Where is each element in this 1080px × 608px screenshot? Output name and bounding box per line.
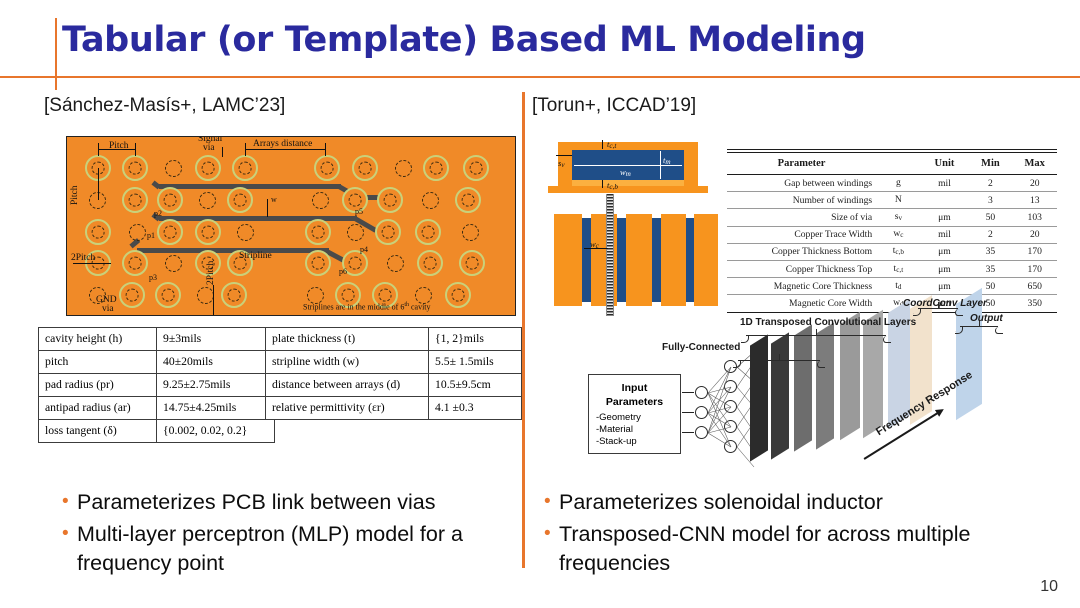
- via-solid: [221, 282, 247, 308]
- cell-value: 9±3mils: [157, 328, 275, 351]
- sym-sub: d: [898, 283, 902, 291]
- bullet-item: Multi-layer perceptron (MLP) model for a…: [62, 520, 512, 578]
- nn-label-conv-layers: 1D Transposed Convolutional Layers: [740, 317, 916, 328]
- via-dashed: [462, 224, 479, 241]
- sym-base: g: [896, 177, 901, 188]
- pcb-label-p3: p3: [149, 273, 157, 282]
- cell-max: 20: [1012, 226, 1057, 243]
- winding-gap-core: [582, 218, 591, 302]
- winding-gap-core: [617, 218, 626, 302]
- conv-slab: [840, 312, 860, 440]
- via-solid: [445, 282, 471, 308]
- title-accent-horizontal-rule: [0, 76, 1080, 78]
- cell-min: 3: [968, 192, 1012, 209]
- inductor-label-tcb: tc,b: [607, 180, 618, 191]
- input-parameters-box: Input Parameters -Geometry -Material -St…: [588, 374, 681, 454]
- via-solid: [377, 187, 403, 213]
- cell-value: {0.002, 0.02, 0.2}: [157, 420, 275, 443]
- cell-parameter: Copper Thickness Bottom: [727, 243, 876, 260]
- table-row: plate thickness (t){1, 2}mils: [266, 328, 522, 351]
- via-solid: [232, 155, 258, 181]
- conv-slab: [863, 310, 883, 438]
- pcb-note: Striplines are in the middle of 6th cavi…: [303, 302, 431, 312]
- cell-min: 2: [968, 226, 1012, 243]
- conv-slab: [794, 324, 812, 451]
- pcb-label-p6: p6: [339, 267, 347, 276]
- label-sub: c: [596, 242, 599, 250]
- inductor-label-tct: tc,t: [607, 139, 616, 150]
- pitch-tick: [135, 143, 136, 156]
- pcb-parameter-table-left: cavity height (h)9±3mils pitch40±20mils …: [38, 327, 275, 443]
- sym-sub: c: [900, 231, 903, 239]
- pitch-tick: [98, 143, 99, 156]
- panel-divider: [522, 92, 525, 568]
- via-solid: [415, 219, 441, 245]
- tcb-dimension-arrow: [602, 180, 603, 188]
- tm-dimension-arrow: [660, 151, 661, 179]
- cell-value: 10.5±9.5cm: [429, 374, 522, 397]
- table-row: pitch40±20mils: [39, 351, 275, 374]
- cell-param: cavity height (h): [39, 328, 157, 351]
- cell-param: pitch: [39, 351, 157, 374]
- pcb-parameter-table-right: plate thickness (t){1, 2}mils stripline …: [265, 327, 522, 420]
- table-row: cavity height (h)9±3mils: [39, 328, 275, 351]
- via-dashed: [387, 255, 404, 272]
- cell-max: 13: [1012, 192, 1057, 209]
- via-solid: [305, 250, 331, 276]
- cell-parameter: Copper Thickness Top: [727, 260, 876, 277]
- sv-dimension-arrow: [556, 155, 572, 156]
- nn-label-fully-connected: Fully-Connected: [662, 342, 740, 353]
- via-solid: [314, 155, 340, 181]
- table-row: Gap between windings g mil 2 20: [727, 175, 1057, 192]
- table-top-rule: [727, 149, 1057, 150]
- sym-sub: c,t: [896, 266, 903, 274]
- winding-gap-core: [686, 218, 694, 302]
- cell-max: 650: [1012, 278, 1057, 295]
- signal-via-leader: [222, 147, 223, 157]
- cell-max: 103: [1012, 209, 1057, 226]
- pcb-label-p2: p2: [154, 209, 162, 218]
- input-item-stackup: -Stack-up: [596, 436, 680, 447]
- pcb-note-text: Striplines are in the middle of 6: [303, 303, 404, 312]
- via-solid: [423, 155, 449, 181]
- conv-slab: [771, 332, 789, 459]
- cell-symbol: tc,b: [876, 243, 920, 260]
- header-unit: Unit: [921, 153, 969, 175]
- label-sub: c,t: [609, 142, 616, 150]
- via-dashed: [395, 160, 412, 177]
- pcb-via-array-stripline-diagram: Pitch Pitch Signal via Arrays distance 2…: [66, 136, 516, 316]
- cell-value: {1, 2}mils: [429, 328, 522, 351]
- brace-tick: [816, 329, 817, 336]
- tct-dimension-arrow: [602, 140, 603, 149]
- cell-min: 35: [968, 260, 1012, 277]
- winding-bar: [694, 214, 718, 306]
- inductor-label-wm: wm: [620, 167, 631, 178]
- via-dashed: [129, 224, 146, 241]
- input-title-line1: Input: [589, 382, 680, 394]
- via-dashed: [197, 287, 214, 304]
- bullet-item: Parameterizes solenoidal inductor: [544, 488, 1054, 517]
- header-symbol: [876, 153, 920, 175]
- bullets-right: Parameterizes solenoidal inductor Transp…: [544, 488, 1054, 581]
- bullet-item: Transposed-CNN model for across multiple…: [544, 520, 1054, 578]
- coordconv-brace: [918, 308, 958, 315]
- cell-max: 20: [1012, 175, 1057, 192]
- via-solid: [375, 219, 401, 245]
- pcb-label-w: w: [271, 195, 277, 204]
- table-header-row: Parameter Unit Min Max: [727, 153, 1057, 175]
- cell-parameter: Magnetic Core Thickness: [727, 278, 876, 295]
- via-solid: [195, 155, 221, 181]
- cell-param: relative permittivity (εr): [266, 397, 429, 420]
- input-arrow: [682, 392, 694, 393]
- via-solid: [155, 282, 181, 308]
- pcb-label-arrays-distance: Arrays distance: [253, 139, 312, 149]
- via-dashed: [312, 192, 329, 209]
- output-brace: [960, 326, 998, 333]
- table-row: Number of windings N 3 13: [727, 192, 1057, 209]
- cell-unit: [921, 192, 969, 209]
- cell-param: distance between arrays (d): [266, 374, 429, 397]
- winding-gap-core: [652, 218, 661, 302]
- cell-value: 4.1 ±0.3: [429, 397, 522, 420]
- pcb-label-p5: p5: [355, 207, 363, 216]
- cell-parameter: Magnetic Core Width: [727, 295, 876, 312]
- fc-node: [695, 426, 708, 439]
- transposed-cnn-architecture-diagram: Input Parameters -Geometry -Material -St…: [588, 312, 1058, 477]
- fc-node: [695, 406, 708, 419]
- table-row: antipad radius (ar)14.75±4.25mils: [39, 397, 275, 420]
- gap-indicator-strip: [606, 194, 614, 316]
- cell-parameter: Gap between windings: [727, 175, 876, 192]
- nn-label-coordconv: CoordConv Layer: [903, 298, 987, 309]
- input-title-line2: Parameters: [589, 396, 680, 408]
- arrays-distance-tick: [245, 143, 246, 156]
- via-solid: [463, 155, 489, 181]
- fc-node: [724, 380, 737, 393]
- cell-unit: mil: [921, 175, 969, 192]
- cell-unit: μm: [921, 209, 969, 226]
- label-sub: c,b: [609, 183, 618, 191]
- winding-bar: [626, 214, 652, 306]
- input-item-material: -Material: [596, 424, 680, 435]
- cell-value: 14.75±4.25mils: [157, 397, 275, 420]
- via-solid: [459, 250, 485, 276]
- fc-node: [724, 440, 737, 453]
- pcb-label-stripline: Stripline: [239, 251, 272, 261]
- substrate-base: [548, 186, 708, 193]
- table-row: distance between arrays (d)10.5±9.5cm: [266, 374, 522, 397]
- header-parameter: Parameter: [727, 153, 876, 175]
- table-row: stripline width (w)5.5± 1.5mils: [266, 351, 522, 374]
- via-dashed: [347, 224, 364, 241]
- fc-node: [695, 386, 708, 399]
- cell-min: 50: [968, 209, 1012, 226]
- copper-right-wall: [684, 142, 698, 186]
- via-solid: [122, 155, 148, 181]
- inductor-label-wc: wc: [590, 239, 599, 250]
- nn-label-output: Output: [970, 313, 1003, 324]
- brace-tick: [779, 354, 780, 361]
- table-row: loss tangent (δ){0.002, 0.02, 0.2}: [39, 420, 275, 443]
- cell-parameter: Copper Trace Width: [727, 226, 876, 243]
- cell-symbol: td: [876, 278, 920, 295]
- page-title: Tabular (or Template) Based ML Modeling: [62, 18, 1052, 62]
- via-solid: [119, 282, 145, 308]
- cell-max: 170: [1012, 243, 1057, 260]
- fc-node: [724, 420, 737, 433]
- cell-parameter: Size of via: [727, 209, 876, 226]
- arrays-distance-tick: [325, 143, 326, 156]
- citation-right: [Torun+, ICCAD’19]: [532, 95, 696, 117]
- via-solid: [122, 187, 148, 213]
- via-solid: [157, 219, 183, 245]
- sym-sub: v: [898, 214, 902, 222]
- via-solid: [352, 155, 378, 181]
- cell-param: pad radius (pr): [39, 374, 157, 397]
- via-solid: [195, 219, 221, 245]
- label-sub: v: [561, 161, 564, 169]
- winding-bar: [554, 214, 582, 306]
- table-row: Copper Thickness Bottom tc,b μm 35 170: [727, 243, 1057, 260]
- via-solid: [85, 219, 111, 245]
- slide-number: 10: [1040, 578, 1058, 596]
- cell-value: 5.5± 1.5mils: [429, 351, 522, 374]
- pcb-label-pitch-vertical: Pitch: [70, 185, 80, 205]
- input-arrow: [682, 432, 694, 433]
- cell-symbol: sv: [876, 209, 920, 226]
- via-dashed: [422, 192, 439, 209]
- cell-param: loss tangent (δ): [39, 420, 157, 443]
- solenoidal-inductor-cross-section: tc,t tc,b tm wm sv g wc: [540, 136, 722, 312]
- stripline-segment: [159, 184, 341, 189]
- arrays-distance-dimension-line: [245, 149, 325, 150]
- header-max: Max: [1012, 153, 1057, 175]
- via-dashed: [237, 224, 254, 241]
- citation-left: [Sánchez-Masís+, LAMC’23]: [44, 95, 285, 117]
- stripline-width-dimension: [267, 199, 268, 217]
- cell-param: stripline width (w): [266, 351, 429, 374]
- copper-top-layer: [558, 142, 698, 150]
- fc-node: [724, 400, 737, 413]
- conv-slab: [750, 334, 768, 461]
- via-dashed: [165, 160, 182, 177]
- label-sub: m: [626, 170, 631, 178]
- via-solid: [455, 187, 481, 213]
- table-row: Size of via sv μm 50 103: [727, 209, 1057, 226]
- cell-value: 9.25±2.75mils: [157, 374, 275, 397]
- table-row: Copper Trace Width wc mil 2 20: [727, 226, 1057, 243]
- fully-connected-brace: [738, 360, 820, 367]
- pcb-label-signal-via-line2: via: [203, 143, 215, 153]
- pcb-label-pitch: Pitch: [109, 141, 129, 151]
- title-accent-vertical-rule: [55, 18, 57, 90]
- conv-layers-brace: [746, 335, 886, 342]
- pcb-label-gnd-via-line2: via: [102, 304, 114, 314]
- bullets-left: Parameterizes PCB link between vias Mult…: [62, 488, 512, 581]
- input-item-geometry: -Geometry: [596, 412, 680, 423]
- cell-symbol: tc,t: [876, 260, 920, 277]
- cell-symbol: wc: [876, 226, 920, 243]
- cell-max: 170: [1012, 260, 1057, 277]
- pcb-label-p1: p1: [147, 231, 155, 240]
- via-solid: [305, 219, 331, 245]
- cell-unit: mil: [921, 226, 969, 243]
- cell-parameter: Number of windings: [727, 192, 876, 209]
- via-dashed: [199, 192, 216, 209]
- pcb-note-tail: cavity: [409, 303, 431, 312]
- cell-unit: μm: [921, 278, 969, 295]
- cell-param: antipad radius (ar): [39, 397, 157, 420]
- table-row: pad radius (pr)9.25±2.75mils: [39, 374, 275, 397]
- table-row: Magnetic Core Thickness td μm 50 650: [727, 278, 1057, 295]
- two-pitch-dimension-line: [73, 263, 111, 264]
- header-min: Min: [968, 153, 1012, 175]
- cell-min: 35: [968, 243, 1012, 260]
- via-solid: [417, 250, 443, 276]
- cell-symbol: g: [876, 175, 920, 192]
- pcb-label-2pitch-vertical: 2Pitch: [206, 261, 216, 285]
- stripline-segment: [159, 216, 357, 221]
- via-solid: [122, 250, 148, 276]
- wm-dimension-arrow: [574, 165, 682, 166]
- cell-symbol: N: [876, 192, 920, 209]
- cell-unit: μm: [921, 243, 969, 260]
- cell-param: plate thickness (t): [266, 328, 429, 351]
- cell-max: 350: [1012, 295, 1057, 312]
- winding-bar: [661, 214, 686, 306]
- two-pitch-vertical-dimension: [213, 285, 214, 315]
- inductor-label-sv: sv: [558, 158, 565, 169]
- cell-value: 40±20mils: [157, 351, 275, 374]
- pcb-label-p4: p4: [360, 245, 368, 254]
- sym-sub: c,b: [895, 248, 904, 256]
- via-solid: [227, 187, 253, 213]
- bullet-item: Parameterizes PCB link between vias: [62, 488, 512, 517]
- pcb-label-2pitch: 2Pitch: [71, 253, 95, 263]
- pitch-vertical-dimension-line: [98, 168, 99, 200]
- via-dashed: [165, 255, 182, 272]
- cell-unit: μm: [921, 260, 969, 277]
- inductor-parameter-table: Parameter Unit Min Max Gap between windi…: [727, 152, 1057, 313]
- input-arrow: [682, 412, 694, 413]
- table-row: relative permittivity (εr)4.1 ±0.3: [266, 397, 522, 420]
- table-row: Copper Thickness Top tc,t μm 35 170: [727, 260, 1057, 277]
- sym-base: N: [895, 194, 902, 205]
- cell-min: 2: [968, 175, 1012, 192]
